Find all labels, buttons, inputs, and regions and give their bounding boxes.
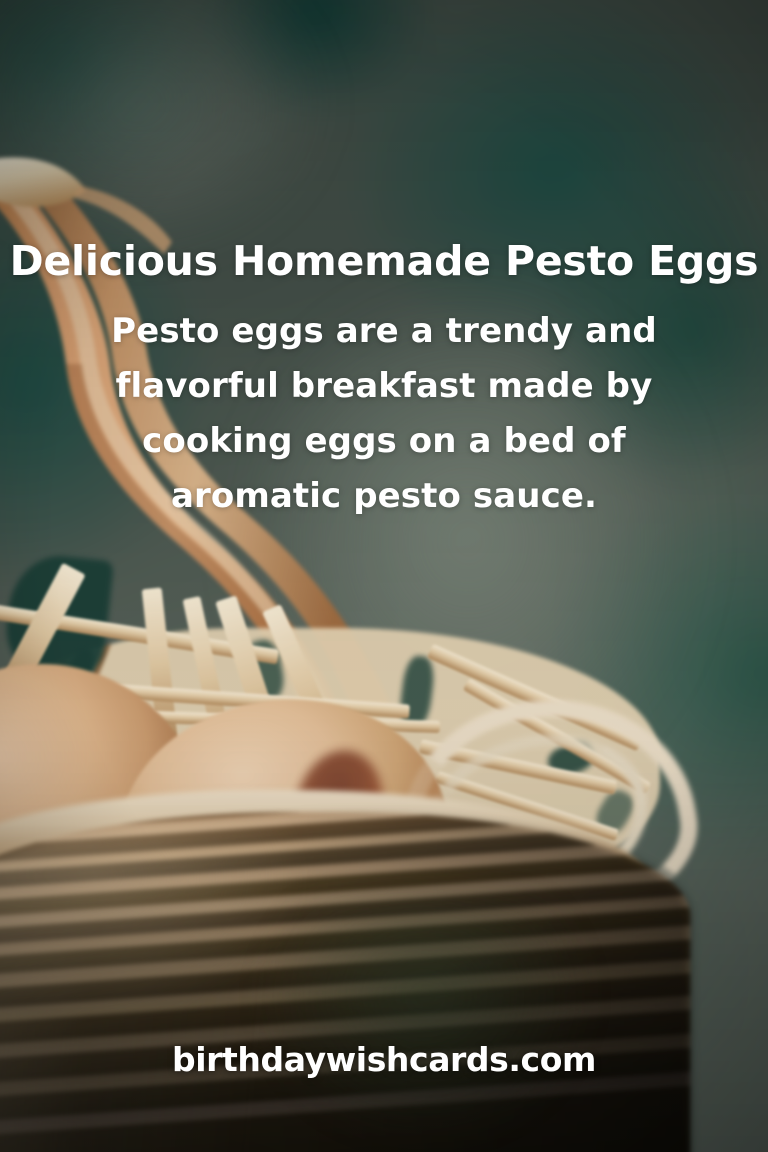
subtitle-line-2: flavorful breakfast made by: [84, 359, 684, 414]
card-subtitle: Pesto eggs are a trendy and flavorful br…: [84, 304, 684, 524]
text-overlay: Delicious Homemade Pesto Eggs Pesto eggs…: [0, 0, 768, 1152]
subtitle-line-4: aromatic pesto sauce.: [84, 469, 684, 524]
pinterest-style-recipe-card: Delicious Homemade Pesto Eggs Pesto eggs…: [0, 0, 768, 1152]
watermark-website: birthdaywishcards.com: [0, 1040, 768, 1079]
subtitle-line-1: Pesto eggs are a trendy and: [84, 304, 684, 359]
card-title: Delicious Homemade Pesto Eggs: [0, 236, 768, 286]
subtitle-line-3: cooking eggs on a bed of: [84, 414, 684, 469]
